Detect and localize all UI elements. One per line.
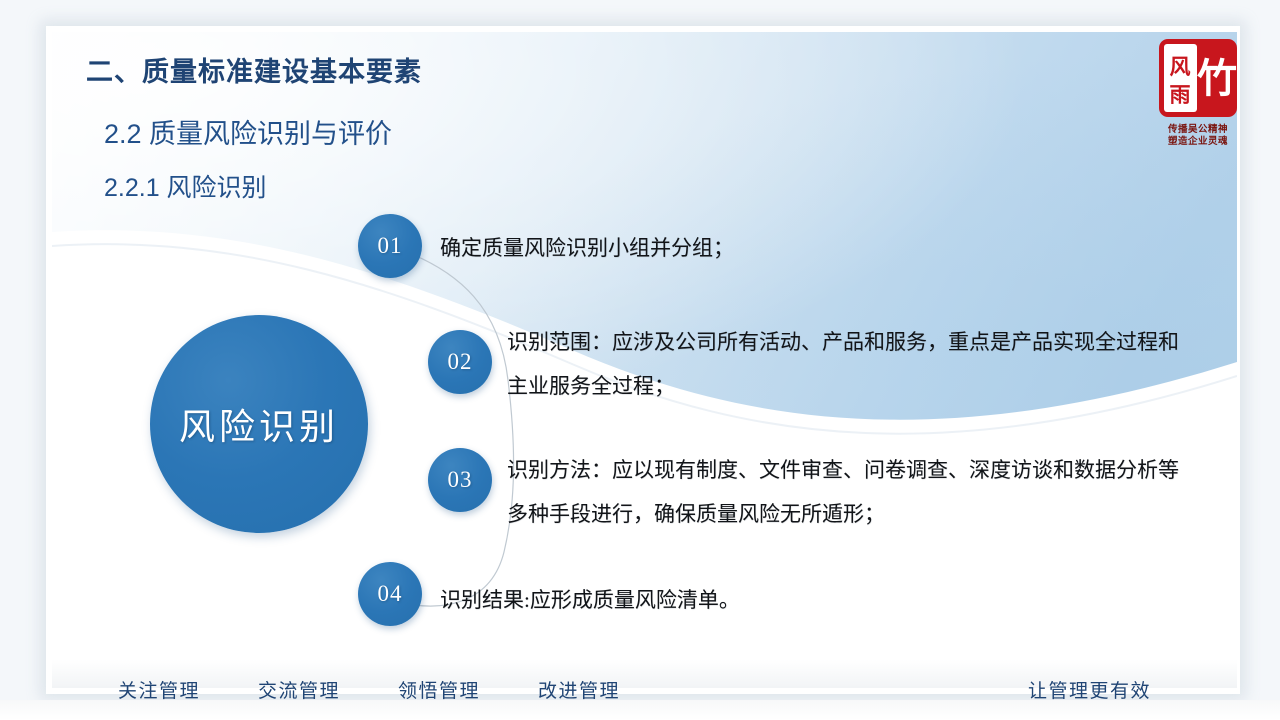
page-title: 二、质量标准建设基本要素 — [86, 50, 422, 89]
step-number-02: 02 — [448, 349, 473, 375]
step-text-01: 确定质量风险识别小组并分组； — [440, 226, 1140, 270]
company-logo: 风 雨 竹 传播吴公精神 塑造企业灵魂 — [1152, 36, 1244, 154]
step-node-03[interactable]: 03 — [428, 448, 492, 512]
hub-circle: 风险识别 — [150, 315, 368, 533]
step-node-04[interactable]: 04 — [358, 562, 422, 626]
step-text-03: 识别方法：应以现有制度、文件审查、问卷调查、深度访谈和数据分析等多种手段进行，确… — [507, 448, 1179, 536]
section-heading: 2.2 质量风险识别与评价 — [104, 112, 392, 151]
svg-text:风: 风 — [1170, 55, 1191, 79]
step-node-01[interactable]: 01 — [358, 214, 422, 278]
step-text-04: 识别结果:应形成质量风险清单。 — [440, 578, 1140, 622]
footer-left: 关注管理 交流管理 领悟管理 改进管理 — [118, 676, 620, 703]
footer-item-4: 改进管理 — [538, 676, 620, 703]
footer-item-1: 关注管理 — [118, 676, 200, 703]
svg-text:竹: 竹 — [1197, 56, 1237, 101]
step-text-02: 识别范围：应涉及公司所有活动、产品和服务，重点是产品实现全过程和主业服务全过程； — [507, 320, 1179, 408]
footer-right: 让管理更有效 — [1028, 676, 1151, 703]
hub-label: 风险识别 — [179, 398, 339, 450]
footer-rule — [0, 700, 1280, 720]
seal-icon: 风 雨 竹 — [1156, 36, 1240, 120]
logo-tagline-line2: 塑造企业灵魂 — [1152, 136, 1244, 148]
logo-tagline: 传播吴公精神 塑造企业灵魂 — [1152, 124, 1244, 148]
slide-canvas: 二、质量标准建设基本要素 2.2 质量风险识别与评价 2.2.1 风险识别 风险… — [0, 0, 1280, 720]
footer-item-3: 领悟管理 — [398, 676, 480, 703]
subsection-heading: 2.2.1 风险识别 — [104, 168, 267, 204]
step-number-04: 04 — [378, 581, 403, 607]
logo-tagline-line1: 传播吴公精神 — [1152, 124, 1244, 136]
footer-item-2: 交流管理 — [258, 676, 340, 703]
step-node-02[interactable]: 02 — [428, 330, 492, 394]
step-number-01: 01 — [378, 233, 403, 259]
svg-text:雨: 雨 — [1170, 83, 1191, 107]
step-number-03: 03 — [448, 467, 473, 493]
